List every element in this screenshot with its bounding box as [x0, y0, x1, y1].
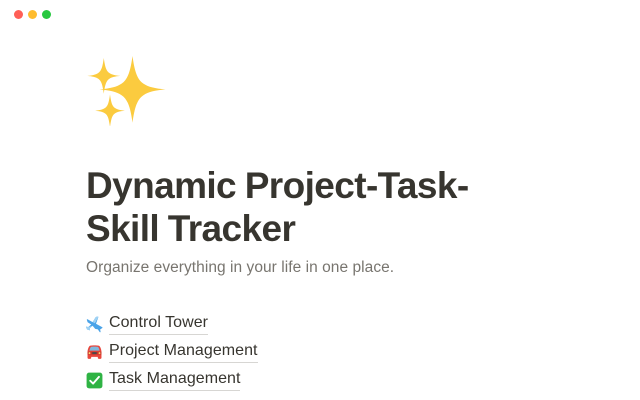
- page-subtitle: Organize everything in your life in one …: [86, 257, 394, 279]
- close-button[interactable]: [14, 10, 23, 19]
- minimize-button[interactable]: [28, 10, 37, 19]
- link-project-management[interactable]: Project Management: [109, 341, 258, 363]
- title-bar: [0, 0, 640, 28]
- list-item[interactable]: Task Management: [85, 366, 525, 394]
- car-icon: [85, 342, 109, 362]
- airplane-icon: [85, 314, 109, 334]
- window-controls: [14, 10, 51, 19]
- link-task-management[interactable]: Task Management: [109, 369, 240, 391]
- check-mark-button-icon: [85, 370, 109, 390]
- page-title: Dynamic Project-Task-Skill Tracker: [86, 164, 541, 250]
- link-control-tower[interactable]: Control Tower: [109, 313, 208, 335]
- page-content: Dynamic Project-Task-Skill Tracker Organ…: [0, 28, 640, 400]
- app-window: Dynamic Project-Task-Skill Tracker Organ…: [0, 0, 640, 400]
- list-item[interactable]: Control Tower: [85, 310, 525, 338]
- sparkles-icon[interactable]: [86, 54, 170, 126]
- maximize-button[interactable]: [42, 10, 51, 19]
- page-link-list: Control Tower Project Management: [85, 310, 525, 394]
- list-item[interactable]: Project Management: [85, 338, 525, 366]
